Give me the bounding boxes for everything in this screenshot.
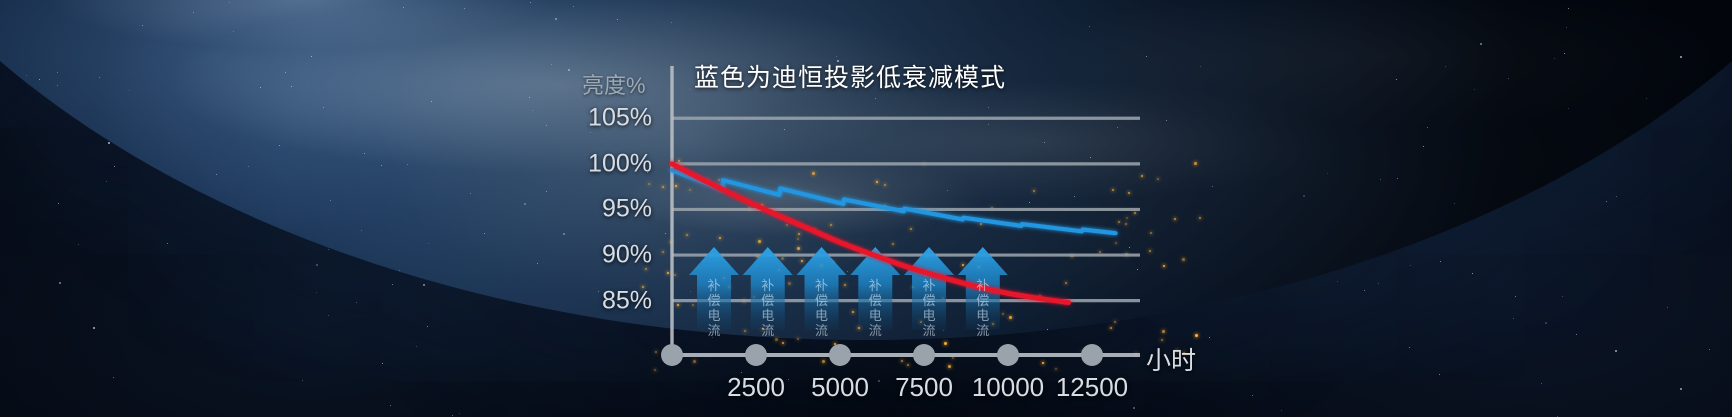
x-axis-tick: 7500 — [895, 372, 953, 403]
y-axis-tick: 95% — [566, 195, 652, 224]
x-axis-tick: 10000 — [972, 372, 1044, 403]
y-axis-tick: 105% — [566, 104, 652, 133]
compensation-arrows — [689, 247, 1008, 330]
x-axis-tick: 2500 — [727, 372, 785, 403]
x-axis-tick: 12500 — [1056, 372, 1128, 403]
x-axis-tick: 5000 — [811, 372, 869, 403]
y-axis-tick: 85% — [566, 286, 652, 315]
data-series — [672, 164, 1116, 303]
chart-title: 蓝色为迪恒投影低衰减模式 — [694, 58, 1006, 94]
brightness-decay-chart: 蓝色为迪恒投影低衰减模式 亮度% 105%100%95%90%85% 25005… — [0, 0, 1732, 417]
y-axis-tick-labels: 105%100%95%90%85% — [566, 0, 652, 417]
y-axis-tick: 100% — [566, 149, 652, 178]
chart-screenshot: 蓝色为迪恒投影低衰减模式 亮度% 105%100%95%90%85% 25005… — [0, 0, 1732, 417]
x-axis-label: 小时 — [1146, 341, 1196, 377]
y-axis-tick: 90% — [566, 241, 652, 270]
